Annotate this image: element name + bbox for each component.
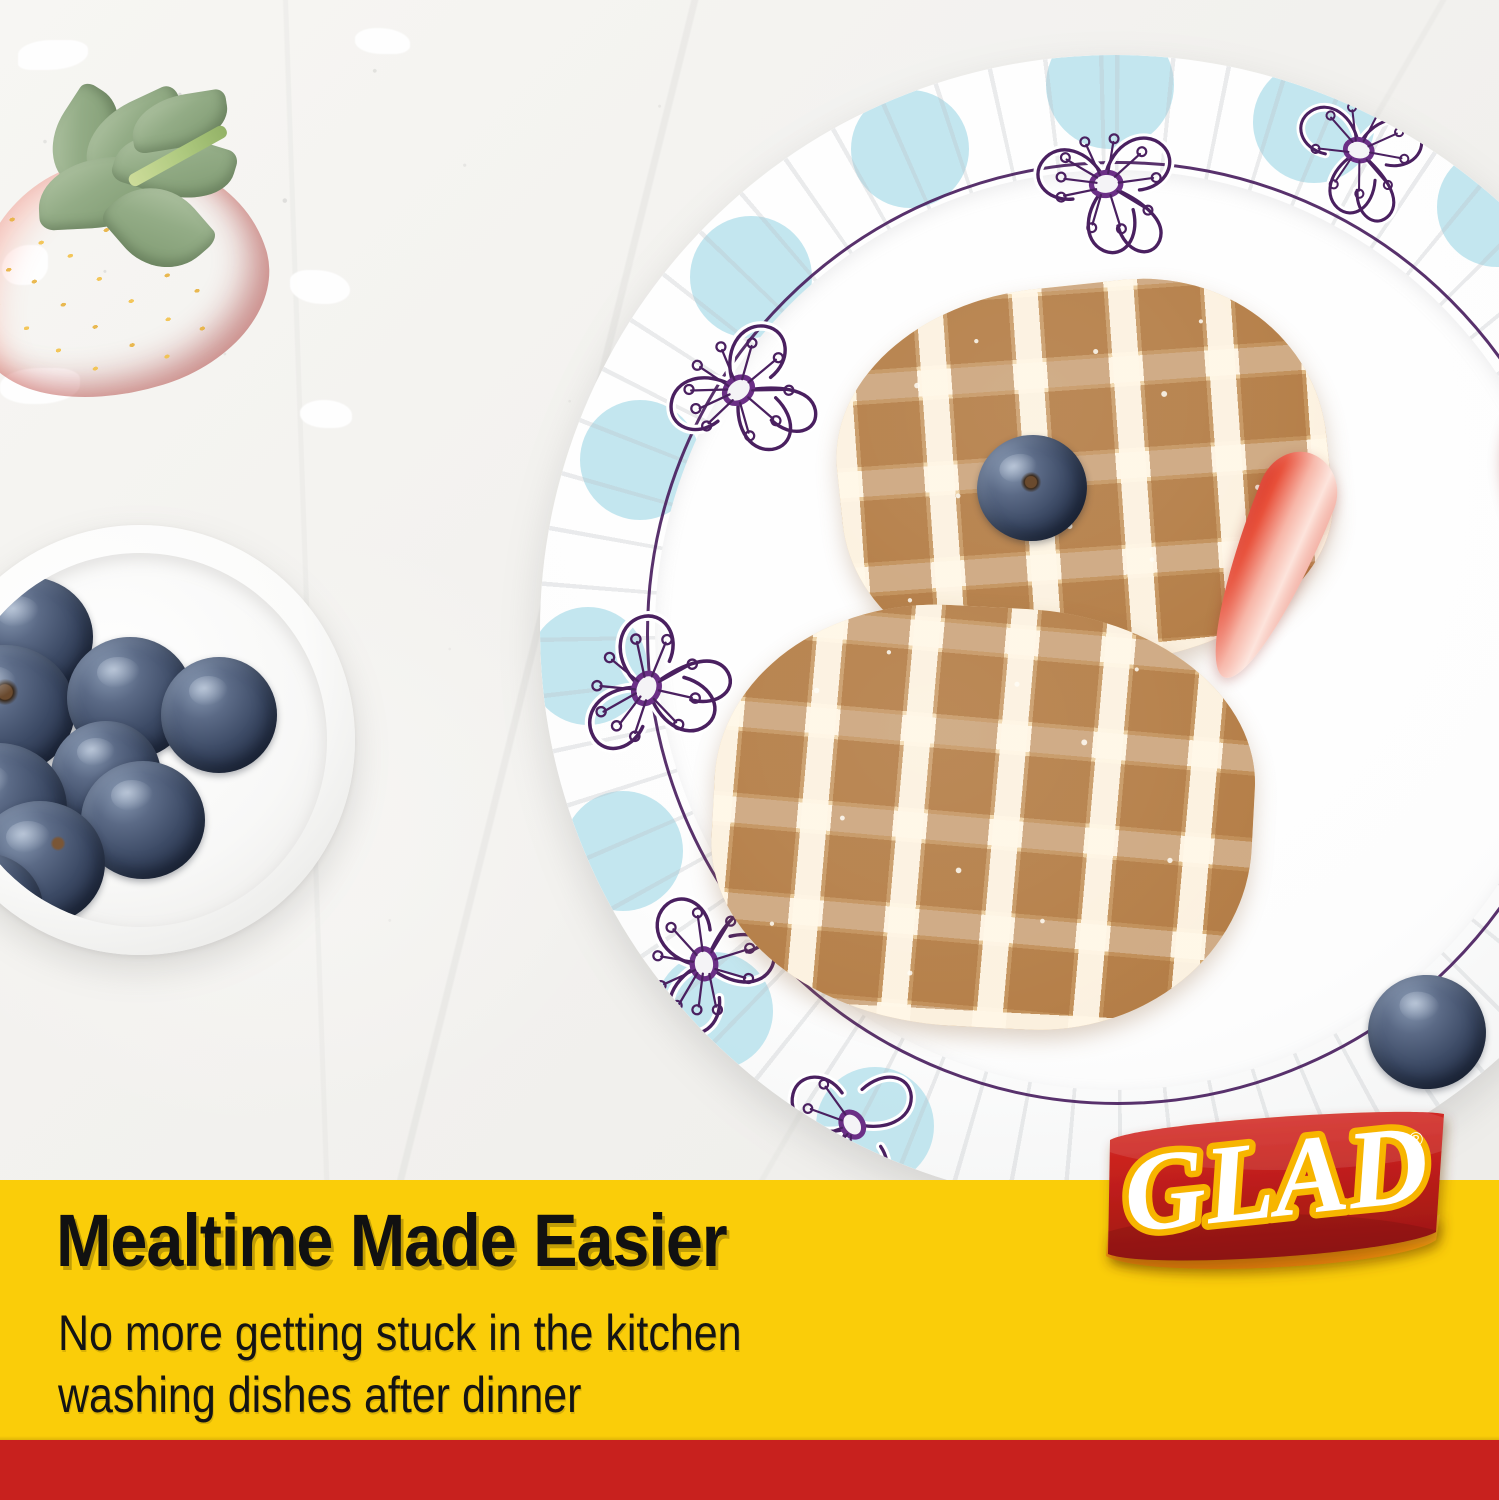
footer-bar xyxy=(0,1440,1499,1500)
blueberry-crown xyxy=(1018,469,1043,493)
glad-logo: GLAD GLAD ® xyxy=(1104,1104,1450,1294)
plate-surface xyxy=(540,55,1499,1180)
lifestyle-photo xyxy=(0,0,1499,1180)
bowl-interior xyxy=(0,553,327,927)
counter-flake xyxy=(300,400,352,428)
glad-product-ad: Mealtime Made Easier No more getting stu… xyxy=(0,0,1499,1500)
paper-plate xyxy=(540,55,1499,1180)
blueberry xyxy=(161,657,277,773)
headline: Mealtime Made Easier xyxy=(56,1200,727,1282)
blueberry-crown xyxy=(0,679,19,705)
blueberry-crown xyxy=(50,836,66,851)
registered-trademark-icon: ® xyxy=(1409,1130,1423,1151)
subheadline: No more getting stuck in the kitchen was… xyxy=(58,1302,742,1426)
